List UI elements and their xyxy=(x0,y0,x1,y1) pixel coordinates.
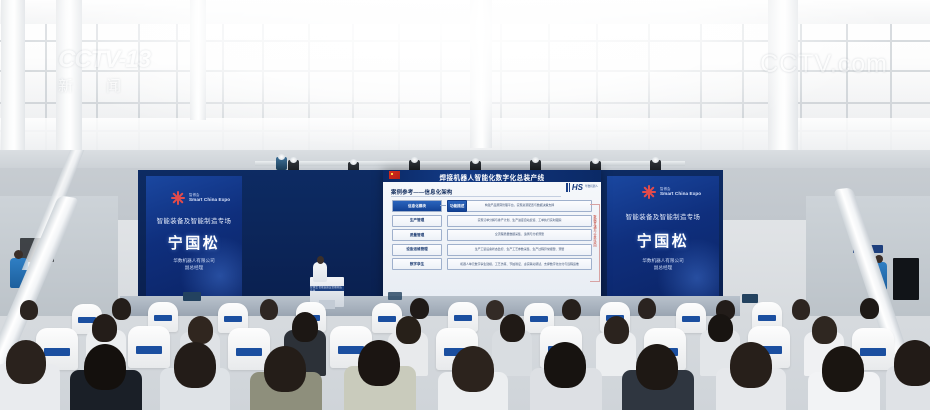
audience-head xyxy=(292,312,318,342)
subtitle-divider xyxy=(391,196,561,197)
table-header-right: 功能描述 xyxy=(447,200,467,212)
audience-head xyxy=(792,299,810,320)
slide-brand-logo: HS 华数机器人 xyxy=(566,183,598,192)
audience-head xyxy=(396,316,421,344)
brand-name: 华数机器人 xyxy=(585,186,598,189)
speaker-org-right: 华数机器人有限公司 xyxy=(607,258,719,265)
brand-bars-icon xyxy=(566,183,570,192)
audience-head xyxy=(544,342,586,388)
audience-head xyxy=(860,298,879,319)
speaker-name-right: 宁国松 xyxy=(607,230,719,251)
table-header-left: 信息化模块 xyxy=(392,200,442,212)
channel-watermark: CCTV-13 新 闻 xyxy=(58,48,150,96)
audience-head xyxy=(636,344,678,390)
floor-monitor xyxy=(893,258,919,300)
table-header-row: 信息化模块 功能描述 xyxy=(392,200,467,212)
audience-head xyxy=(604,316,629,344)
brand-mark: HS xyxy=(572,184,583,192)
table-row: 质量管理 全流程质量数据采集、追溯与分析预警 xyxy=(392,229,592,241)
speaker-org-left: 华数机器人有限公司 xyxy=(146,258,242,265)
side-annotation-text: 数据贯通与业务协同 xyxy=(593,215,598,247)
broadcast-frame: 智博会 Smart China Expo 智能装备及智能制造专场 宁国松 华数机… xyxy=(0,0,930,410)
row-desc: 全流程质量数据采集、追溯与分析预警 xyxy=(447,229,592,241)
expo-burst-icon xyxy=(170,190,186,206)
session-title-right: 智能装备及智能制造专场 xyxy=(607,212,719,221)
table-row: 生产管理 实现订单分解与排产计划、生产进度自动反馈、工单执行实时跟踪 xyxy=(392,215,592,227)
slide-subtitle: 案例参考——信息化架构 xyxy=(391,188,453,196)
audience-head xyxy=(708,314,733,342)
speaker-name-left: 宁国松 xyxy=(146,232,242,253)
audience-head xyxy=(20,300,38,320)
row-label: 质量管理 xyxy=(392,229,442,241)
led-presentation-screen: 焊接机器人智能化数字化总装产线 HS 华数机器人 案例参考——信息化架构 信息化… xyxy=(383,170,601,302)
audience-head xyxy=(410,298,429,319)
audience-head xyxy=(500,314,525,342)
smart-china-expo-logo: 智博会 Smart China Expo xyxy=(641,184,701,200)
row-label: 生产管理 xyxy=(392,215,442,227)
audience-head xyxy=(112,298,131,320)
audience-head xyxy=(638,298,656,319)
speaker-head xyxy=(317,256,324,264)
cctv-logo-text: CCTV-13 xyxy=(58,48,150,72)
audience-head xyxy=(358,340,400,386)
row-label: 设备运维管理 xyxy=(392,244,442,256)
speaker-person xyxy=(313,262,327,282)
row-desc: 实现订单分解与排产计划、生产进度自动反馈、工单执行实时跟踪 xyxy=(447,215,592,227)
audience-head xyxy=(174,342,216,388)
podium-band: 智博会 智能装备及智能制造专场 xyxy=(310,286,344,291)
session-title-left: 智能装备及智能制造专场 xyxy=(146,216,242,225)
cctv-news-text: 新 闻 xyxy=(58,75,150,96)
table-row: 数字孪生 机器人单元数字孪生建模，工艺仿真、节拍验证、虚实联动调试，支撑数字化交… xyxy=(392,258,592,270)
row-desc: 构建产品预算管理平台，实现资源配置与数据决策支撑 xyxy=(447,200,592,212)
slide-side-annotation: 数据贯通与业务协同 xyxy=(590,204,600,282)
slide-title: 焊接机器人智能化数字化总装产线 xyxy=(383,172,601,182)
presentation-slide: 焊接机器人智能化数字化总装产线 HS 华数机器人 案例参考——信息化架构 信息化… xyxy=(383,170,601,302)
expo-logo-cn: 智博会 xyxy=(189,193,230,198)
row-desc: 机器人单元数字孪生建模，工艺仿真、节拍验证、虚实联动调试，支撑数字化交付与远程运… xyxy=(447,258,592,270)
expo-burst-icon xyxy=(641,184,657,200)
speaker-role-right: 副总经理 xyxy=(607,265,719,272)
audience-head xyxy=(812,316,837,344)
table-row: 设备运维管理 生产工装设备状态监控、生产工艺参数采集、生产过程异常报警、预警 xyxy=(392,244,592,256)
row-label: 数字孪生 xyxy=(392,258,442,270)
audience-head xyxy=(452,346,494,392)
slide-table: 信息化模块 功能描述 预算决策 构建产品预算管理平台，实现资源配置与数据决策支撑… xyxy=(392,200,592,273)
audience-head xyxy=(84,344,126,390)
audience-head xyxy=(6,340,46,384)
audience-head xyxy=(894,340,930,386)
audience-head xyxy=(188,316,213,344)
audience-head xyxy=(822,346,864,392)
smart-china-expo-logo: 智博会 Smart China Expo xyxy=(170,190,230,206)
stage-banner-right: 智博会 Smart China Expo 智能装备及智能制造专场 宁国松 华数机… xyxy=(607,176,719,298)
table-connector-line xyxy=(440,205,446,206)
expo-logo-cn: 智博会 xyxy=(660,187,701,192)
audience-head xyxy=(92,314,117,342)
stage-light xyxy=(276,157,287,170)
staff-head xyxy=(14,250,23,259)
speaker-role-left: 副总经理 xyxy=(146,265,242,272)
row-desc: 生产工装设备状态监控、生产工艺参数采集、生产过程异常报警、预警 xyxy=(447,244,592,256)
site-watermark: CCTV.com xyxy=(760,52,888,77)
audience-head xyxy=(260,299,278,320)
podium-text: 智博会 智能装备及智能制造专场 xyxy=(310,285,344,293)
audience-head xyxy=(730,342,772,388)
chair xyxy=(128,326,170,368)
expo-logo-en: Smart China Expo xyxy=(660,191,701,197)
audience-head xyxy=(562,299,581,320)
audience-head xyxy=(264,346,306,392)
audience-seating xyxy=(0,296,930,410)
audience-head xyxy=(486,300,504,320)
expo-logo-en: Smart China Expo xyxy=(189,197,230,203)
stage-banner-left: 智博会 Smart China Expo 智能装备及智能制造专场 宁国松 华数机… xyxy=(146,176,242,296)
